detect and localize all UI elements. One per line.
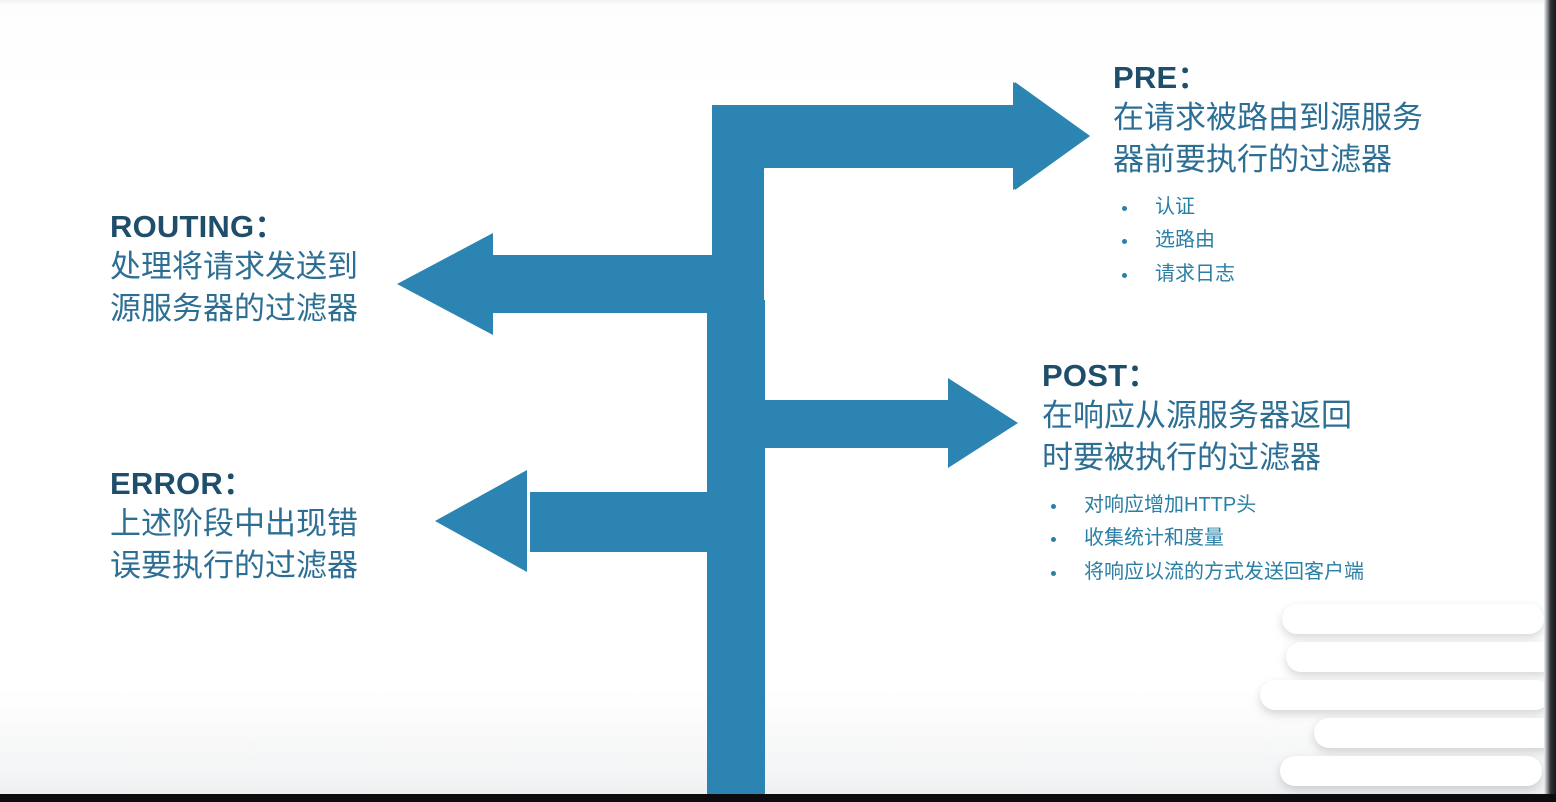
pre-text-block: PRE： 在请求被路由到源服务 器前要执行的过滤器 认证 选路由 请求日志 bbox=[1113, 60, 1483, 292]
stacked-card[interactable] bbox=[1280, 756, 1542, 786]
post-bullet-item: 收集统计和度量 bbox=[1042, 522, 1414, 556]
routing-heading: ROUTING： bbox=[110, 209, 440, 246]
pre-bullet-item: 认证 bbox=[1113, 191, 1483, 225]
error-heading: ERROR： bbox=[110, 466, 440, 503]
pre-bullet-list: 认证 选路由 请求日志 bbox=[1113, 191, 1483, 292]
pre-bullet-item: 请求日志 bbox=[1113, 258, 1483, 292]
error-description-line-2: 误要执行的过滤器 bbox=[110, 545, 440, 587]
stacked-card[interactable] bbox=[1314, 718, 1556, 748]
pre-arrow-bend bbox=[738, 138, 1016, 300]
pre-description-line-1: 在请求被路由到源服务 bbox=[1113, 97, 1483, 139]
routing-description: 处理将请求发送到 源服务器的过滤器 bbox=[110, 246, 440, 330]
post-bullet-item: 将响应以流的方式发送回客户端 bbox=[1042, 556, 1414, 590]
stacked-cards-overlay[interactable] bbox=[1256, 594, 1556, 794]
stacked-card[interactable] bbox=[1282, 604, 1544, 634]
pre-heading: PRE： bbox=[1113, 60, 1483, 97]
error-arrow-head bbox=[435, 470, 527, 572]
post-description-line-2: 时要被执行的过滤器 bbox=[1042, 437, 1422, 479]
routing-description-line-1: 处理将请求发送到 bbox=[110, 246, 440, 288]
post-description-line-1: 在响应从源服务器返回 bbox=[1042, 395, 1422, 437]
post-bullet-item: 对响应增加HTTP头 bbox=[1042, 489, 1414, 523]
routing-description-line-2: 源服务器的过滤器 bbox=[110, 288, 440, 330]
error-description-line-1: 上述阶段中出现错 bbox=[110, 503, 440, 545]
post-heading: POST： bbox=[1042, 358, 1422, 395]
bottom-edge-bar bbox=[0, 794, 1556, 802]
routing-text-block: ROUTING： 处理将请求发送到 源服务器的过滤器 bbox=[110, 209, 440, 330]
slide-canvas: PRE： 在请求被路由到源服务 器前要执行的过滤器 认证 选路由 请求日志 PO… bbox=[0, 0, 1556, 802]
error-text-block: ERROR： 上述阶段中出现错 误要执行的过滤器 bbox=[110, 466, 440, 587]
post-arrow-head bbox=[948, 378, 1018, 468]
stacked-card[interactable] bbox=[1260, 680, 1550, 710]
post-text-block: POST： 在响应从源服务器返回 时要被执行的过滤器 对响应增加HTTP头 收集… bbox=[1042, 358, 1422, 590]
pre-description-line-2: 器前要执行的过滤器 bbox=[1113, 139, 1483, 181]
stacked-card[interactable] bbox=[1286, 642, 1556, 672]
post-description: 在响应从源服务器返回 时要被执行的过滤器 bbox=[1042, 395, 1422, 479]
pre-arrow-head bbox=[1013, 82, 1090, 190]
error-description: 上述阶段中出现错 误要执行的过滤器 bbox=[110, 503, 440, 587]
pre-description: 在请求被路由到源服务 器前要执行的过滤器 bbox=[1113, 97, 1483, 181]
post-bullet-list: 对响应增加HTTP头 收集统计和度量 将响应以流的方式发送回客户端 bbox=[1042, 489, 1422, 590]
pre-bullet-item: 选路由 bbox=[1113, 224, 1483, 258]
right-edge-strip bbox=[1544, 0, 1556, 802]
